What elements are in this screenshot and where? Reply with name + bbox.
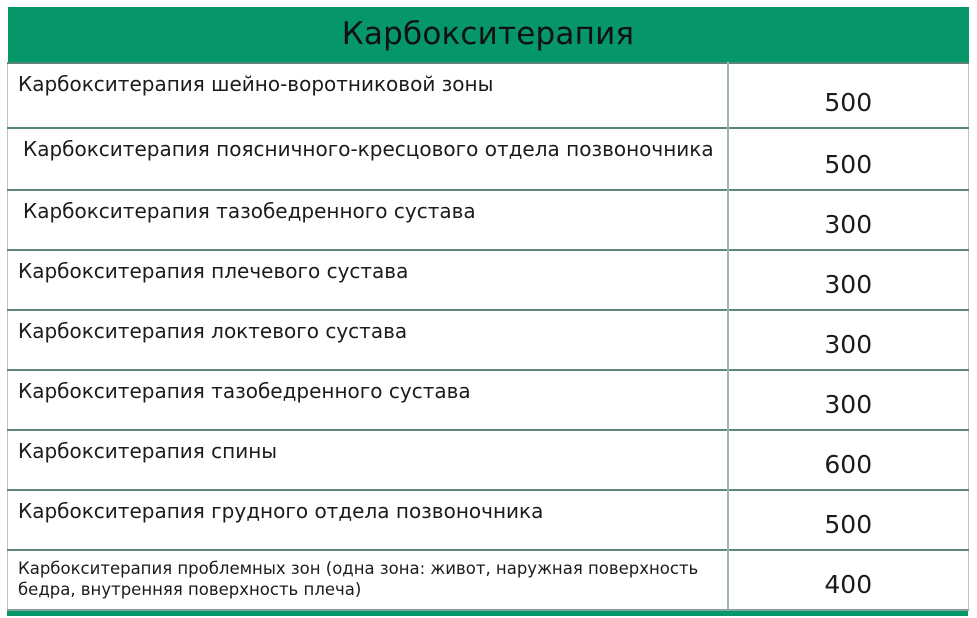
service-name-cell: Карбокситерапия тазобедренного сустава — [8, 190, 728, 250]
table-row: Карбокситерапия локтевого сустава 300 — [8, 310, 969, 370]
service-name-text: Карбокситерапия локтевого сустава — [18, 311, 727, 344]
service-name-text: Карбокситерапия шейно-воротниковой зоны — [18, 64, 727, 97]
table-row: Карбокситерапия тазобедренного сустава 3… — [8, 370, 969, 430]
service-name-cell: Карбокситерапия шейно-воротниковой зоны — [8, 63, 728, 128]
service-name-text: Карбокситерапия плечевого сустава — [18, 251, 727, 284]
service-price-cell: 300 — [728, 190, 969, 250]
table-row: Карбокситерапия плечевого сустава 300 — [8, 250, 969, 310]
service-price-cell: 400 — [728, 550, 969, 610]
table-row: Карбокситерапия поясничного-кресцового о… — [8, 128, 969, 190]
service-price-cell: 500 — [728, 63, 969, 128]
service-price-cell: 500 — [728, 490, 969, 550]
service-price-cell: 300 — [728, 370, 969, 430]
service-price-cell: 300 — [728, 310, 969, 370]
service-price-cell: 300 — [728, 250, 969, 310]
service-price-cell: 600 — [728, 430, 969, 490]
table-row: Карбокситерапия тазобедренного сустава 3… — [8, 190, 969, 250]
service-name-cell: Карбокситерапия локтевого сустава — [8, 310, 728, 370]
service-name-text: Карбокситерапия тазобедренного сустава — [18, 191, 727, 224]
price-list-table: Карбокситерапия Карбокситерапия шейно-во… — [7, 7, 969, 611]
service-name-text: Карбокситерапия грудного отдела позвоноч… — [18, 491, 727, 524]
service-name-cell: Карбокситерапия тазобедренного сустава — [8, 370, 728, 430]
next-section-accent-strip — [7, 611, 968, 616]
service-name-cell: Карбокситерапия грудного отдела позвоноч… — [8, 490, 728, 550]
table-row: Карбокситерапия спины 600 — [8, 430, 969, 490]
table-title: Карбокситерапия — [8, 7, 969, 63]
service-name-cell: Карбокситерапия поясничного-кресцового о… — [8, 128, 728, 190]
service-name-text: Карбокситерапия спины — [18, 431, 727, 464]
service-name-cell: Карбокситерапия спины — [8, 430, 728, 490]
table-header-row: Карбокситерапия — [8, 7, 969, 63]
table-row: Карбокситерапия проблемных зон (одна зон… — [8, 550, 969, 610]
service-name-text: Карбокситерапия проблемных зон (одна зон… — [18, 551, 727, 601]
service-name-cell: Карбокситерапия плечевого сустава — [8, 250, 728, 310]
service-name-text: Карбокситерапия поясничного-кресцового о… — [18, 129, 727, 162]
service-name-cell: Карбокситерапия проблемных зон (одна зон… — [8, 550, 728, 610]
service-price-cell: 500 — [728, 128, 969, 190]
table-row: Карбокситерапия шейно-воротниковой зоны … — [8, 63, 969, 128]
service-name-text: Карбокситерапия тазобедренного сустава — [18, 371, 727, 404]
table-row: Карбокситерапия грудного отдела позвоноч… — [8, 490, 969, 550]
